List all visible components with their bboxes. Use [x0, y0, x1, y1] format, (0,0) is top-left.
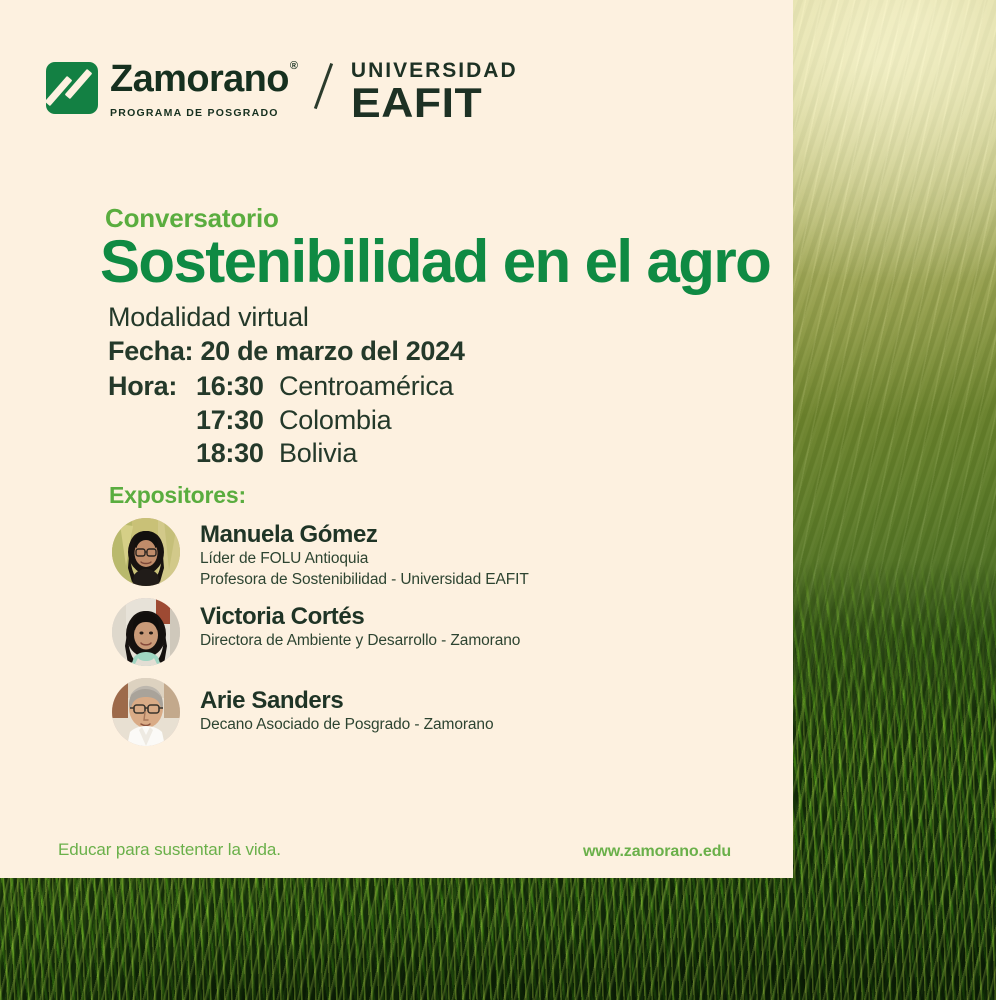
speakers-list: Manuela Gómez Líder de FOLU Antioquia Pr…: [112, 518, 752, 758]
registered-trademark-icon: ®: [290, 60, 298, 72]
speaker-photo-manuela-gomez: [112, 518, 180, 586]
speaker-role: Profesora de Sostenibilidad - Universida…: [200, 570, 529, 591]
poster-canvas: Zamorano® PROGRAMA DE POSGRADO UNIVERSID…: [0, 0, 996, 1000]
event-time-zone: Bolivia: [279, 437, 357, 470]
speaker-name: Manuela Gómez: [200, 522, 529, 549]
zamorano-program-subtitle: PROGRAMA DE POSGRADO: [110, 107, 296, 119]
event-time-value: 18:30: [196, 437, 279, 470]
speaker-name: Victoria Cortés: [200, 604, 520, 631]
content-panel: Zamorano® PROGRAMA DE POSGRADO UNIVERSID…: [0, 0, 793, 878]
list-item: Manuela Gómez Líder de FOLU Antioquia Pr…: [112, 518, 752, 592]
list-item: Victoria Cortés Directora de Ambiente y …: [112, 598, 752, 672]
event-time-zone: Colombia: [279, 404, 391, 437]
event-time-zone: Centroamérica: [279, 370, 453, 403]
footer-website[interactable]: www.zamorano.edu: [583, 843, 731, 861]
logo-row: Zamorano® PROGRAMA DE POSGRADO UNIVERSID…: [46, 60, 518, 124]
event-details: Modalidad virtual Fecha: 20 de marzo del…: [108, 300, 465, 470]
speaker-role: Directora de Ambiente y Desarrollo - Zam…: [200, 631, 520, 652]
footer-tagline: Educar para sustentar la vida.: [58, 840, 281, 860]
logo-divider-slash: [314, 63, 333, 109]
event-date-value: 20 de marzo del 2024: [200, 336, 464, 366]
zamorano-wordmark: Zamorano®: [110, 60, 296, 98]
event-date-label: Fecha:: [108, 336, 193, 366]
zamorano-logo: Zamorano® PROGRAMA DE POSGRADO: [46, 60, 296, 119]
page-title: Sostenibilidad en el agro: [100, 229, 770, 295]
eafit-wordmark-text: EAFIT: [351, 82, 528, 124]
event-time-value: 17:30: [196, 404, 279, 437]
speaker-name: Arie Sanders: [200, 688, 493, 715]
eafit-logo: UNIVERSIDAD EAFIT: [351, 60, 518, 124]
event-date: Fecha: 20 de marzo del 2024: [108, 334, 465, 368]
eafit-universidad-text: UNIVERSIDAD: [351, 60, 518, 81]
speaker-role: Decano Asociado de Posgrado - Zamorano: [200, 715, 493, 736]
event-time-row: Hora: 16:30 Centroamérica: [108, 370, 465, 403]
speaker-role: Líder de FOLU Antioquia: [200, 549, 529, 570]
zamorano-wordmark-text: Zamorano: [110, 58, 289, 100]
event-time-row: 18:30 Bolivia: [108, 437, 465, 470]
speaker-photo-arie-sanders: [112, 678, 180, 746]
event-time-row: 17:30 Colombia: [108, 404, 465, 437]
speaker-photo-victoria-cortes: [112, 598, 180, 666]
zamorano-z-logo-icon: [46, 62, 98, 114]
speakers-heading: Expositores:: [109, 482, 246, 509]
event-time-value: 16:30: [196, 370, 279, 403]
event-time-label: Hora:: [108, 370, 196, 403]
list-item: Arie Sanders Decano Asociado de Posgrado…: [112, 678, 752, 752]
event-modality: Modalidad virtual: [108, 300, 465, 334]
event-times-list: Hora: 16:30 Centroamérica 17:30 Colombia…: [108, 370, 465, 470]
